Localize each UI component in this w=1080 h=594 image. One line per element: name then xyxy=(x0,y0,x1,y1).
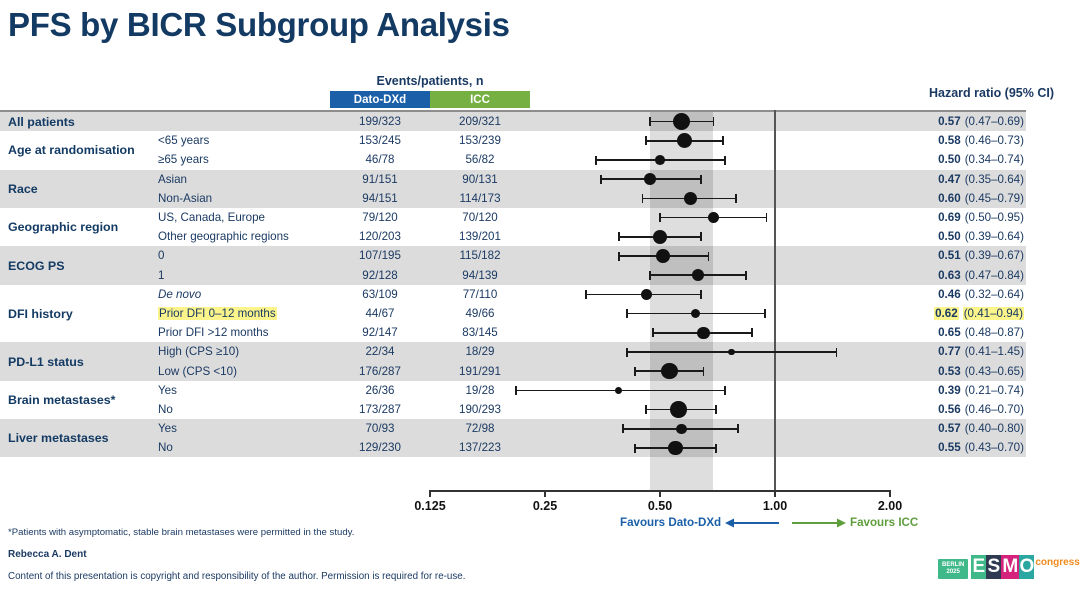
favours-dato-dxd: Favours Dato-DXd xyxy=(620,516,781,529)
events-dato-dxd: 92/147 xyxy=(330,323,430,342)
subgroup-level-label: High (CPS ≥10) xyxy=(158,342,338,361)
hazard-ratio-value: 0.58(0.46–0.73) xyxy=(880,131,1026,150)
subgroup-group-label: ECOG PS xyxy=(8,246,158,284)
events-icc: 83/145 xyxy=(430,323,530,342)
subgroup-level-label: Yes xyxy=(158,419,338,438)
arrow-right-icon xyxy=(790,517,846,529)
events-dato-dxd: 129/230 xyxy=(330,438,430,457)
events-icc: 94/139 xyxy=(430,266,530,285)
hazard-ratio-value: 0.55(0.43–0.70) xyxy=(880,438,1026,457)
hazard-ratio-value: 0.69(0.50–0.95) xyxy=(880,208,1026,227)
hazard-ratio-value: 0.65(0.48–0.87) xyxy=(880,323,1026,342)
axis-tick xyxy=(659,490,661,497)
axis-tick xyxy=(429,490,431,497)
axis-tick-label: 2.00 xyxy=(850,499,930,513)
favours-icc: Favours ICC xyxy=(790,516,918,529)
subgroup-group-label: Race xyxy=(8,170,158,208)
hazard-ratio-value: 0.50(0.34–0.74) xyxy=(880,150,1026,169)
events-icc: 56/82 xyxy=(430,150,530,169)
footnote-author: Rebecca A. Dent xyxy=(8,549,87,560)
subgroup-level-label: <65 years xyxy=(158,131,338,150)
events-icc: 137/223 xyxy=(430,438,530,457)
events-dato-dxd: 70/93 xyxy=(330,419,430,438)
logo-city: BERLIN xyxy=(942,562,964,569)
hazard-ratio-value: 0.62(0.41–0.94) xyxy=(880,304,1026,323)
subgroup-level-label xyxy=(158,112,338,131)
subgroup-group-label: Age at randomisation xyxy=(8,131,158,169)
events-icc: 190/293 xyxy=(430,400,530,419)
events-icc: 139/201 xyxy=(430,227,530,246)
subgroup-level-label: 1 xyxy=(158,266,338,285)
logo-congress-word: congress xyxy=(1035,557,1079,568)
favours-icc-label: Favours ICC xyxy=(850,516,918,529)
events-icc: 72/98 xyxy=(430,419,530,438)
page-title: PFS by BICR Subgroup Analysis xyxy=(8,6,510,44)
subgroup-level-label: ≥65 years xyxy=(158,150,338,169)
logo-letter-o: O xyxy=(1019,555,1034,579)
events-dato-dxd: 92/128 xyxy=(330,266,430,285)
favours-dato-label: Favours Dato-DXd xyxy=(620,516,721,529)
events-dato-dxd: 173/287 xyxy=(330,400,430,419)
footnote-asterisk: *Patients with asymptomatic, stable brai… xyxy=(8,527,354,538)
events-icc: 191/291 xyxy=(430,361,530,380)
hazard-ratio-value: 0.50(0.39–0.64) xyxy=(880,227,1026,246)
axis-tick-label: 0.125 xyxy=(390,499,470,513)
events-dato-dxd: 199/323 xyxy=(330,112,430,131)
subgroup-level-label: Yes xyxy=(158,381,338,400)
events-icc: 90/131 xyxy=(430,170,530,189)
subgroup-group-label: All patients xyxy=(8,112,158,131)
events-dato-dxd: 63/109 xyxy=(330,285,430,304)
hazard-ratio-value: 0.51(0.39–0.67) xyxy=(880,246,1026,265)
subgroup-level-label: Prior DFI >12 months xyxy=(158,323,338,342)
axis-tick-label: 1.00 xyxy=(735,499,815,513)
subgroup-level-label: Non-Asian xyxy=(158,189,338,208)
events-dato-dxd: 94/151 xyxy=(330,189,430,208)
hazard-ratio-value: 0.39(0.21–0.74) xyxy=(880,381,1026,400)
events-dato-dxd: 26/36 xyxy=(330,381,430,400)
subgroup-level-label: Asian xyxy=(158,170,338,189)
events-icc: 49/66 xyxy=(430,304,530,323)
events-dato-dxd: 91/151 xyxy=(330,170,430,189)
logo-berlin-badge: BERLIN 2025 xyxy=(938,559,968,579)
subgroup-level-label: Prior DFI 0–12 months xyxy=(158,304,338,323)
arrow-left-icon xyxy=(725,517,781,529)
axis-tick xyxy=(544,490,546,497)
subgroup-level-label: Low (CPS <10) xyxy=(158,361,338,380)
hazard-ratio-value: 0.47(0.35–0.64) xyxy=(880,170,1026,189)
events-dato-dxd: 107/195 xyxy=(330,246,430,265)
arm-header-dato-dxd: Dato-DXd xyxy=(330,91,430,108)
hazard-ratio-value: 0.56(0.46–0.70) xyxy=(880,400,1026,419)
subgroup-level-label: No xyxy=(158,438,338,457)
subgroup-group-label: DFI history xyxy=(8,285,158,343)
arm-header-icc: ICC xyxy=(430,91,530,108)
footnote-copyright: Content of this presentation is copyrigh… xyxy=(8,571,465,582)
events-dato-dxd: 22/34 xyxy=(330,342,430,361)
hazard-ratio-value: 0.63(0.47–0.84) xyxy=(880,266,1026,285)
subgroup-group-label: PD-L1 status xyxy=(8,342,158,380)
axis-tick xyxy=(774,490,776,497)
hazard-ratio-value: 0.53(0.43–0.65) xyxy=(880,361,1026,380)
events-dato-dxd: 79/120 xyxy=(330,208,430,227)
events-dato-dxd: 46/78 xyxy=(330,150,430,169)
events-icc: 209/321 xyxy=(430,112,530,131)
logo-letter-e: E xyxy=(971,555,986,579)
subgroup-level-label: 0 xyxy=(158,246,338,265)
subgroup-level-label: US, Canada, Europe xyxy=(158,208,338,227)
events-icc: 115/182 xyxy=(430,246,530,265)
subgroup-level-label: De novo xyxy=(158,285,338,304)
hazard-ratio-header: Hazard ratio (95% CI) xyxy=(870,86,1070,100)
events-icc: 18/29 xyxy=(430,342,530,361)
hazard-ratio-value: 0.77(0.41–1.45) xyxy=(880,342,1026,361)
events-patients-header: Events/patients, n xyxy=(330,74,530,88)
logo-esmo-letters: E S M O xyxy=(971,555,1034,579)
logo-letter-s: S xyxy=(986,555,1001,579)
events-icc: 19/28 xyxy=(430,381,530,400)
subgroup-group-label: Geographic region xyxy=(8,208,158,246)
events-dato-dxd: 153/245 xyxy=(330,131,430,150)
hazard-ratio-value: 0.57(0.47–0.69) xyxy=(880,112,1026,131)
subgroup-level-label: Other geographic regions xyxy=(158,227,338,246)
subgroup-group-label: Brain metastases* xyxy=(8,381,158,419)
esmo-congress-logo: BERLIN 2025 E S M O congress xyxy=(938,549,1080,579)
subgroup-group-label: Liver metastases xyxy=(8,419,158,457)
logo-letter-m: M xyxy=(1001,555,1019,579)
events-icc: 114/173 xyxy=(430,189,530,208)
logo-year: 2025 xyxy=(942,569,964,576)
hazard-ratio-value: 0.60(0.45–0.79) xyxy=(880,189,1026,208)
events-dato-dxd: 44/67 xyxy=(330,304,430,323)
events-icc: 77/110 xyxy=(430,285,530,304)
events-dato-dxd: 120/203 xyxy=(330,227,430,246)
hazard-ratio-value: 0.46(0.32–0.64) xyxy=(880,285,1026,304)
axis-tick-label: 0.50 xyxy=(620,499,700,513)
events-icc: 153/239 xyxy=(430,131,530,150)
subgroup-level-label: No xyxy=(158,400,338,419)
hazard-ratio-value: 0.57(0.40–0.80) xyxy=(880,419,1026,438)
events-dato-dxd: 176/287 xyxy=(330,361,430,380)
events-icc: 70/120 xyxy=(430,208,530,227)
slide-root: PFS by BICR Subgroup Analysis Events/pat… xyxy=(0,0,1080,594)
axis-tick xyxy=(889,490,891,497)
axis-tick-label: 0.25 xyxy=(505,499,585,513)
